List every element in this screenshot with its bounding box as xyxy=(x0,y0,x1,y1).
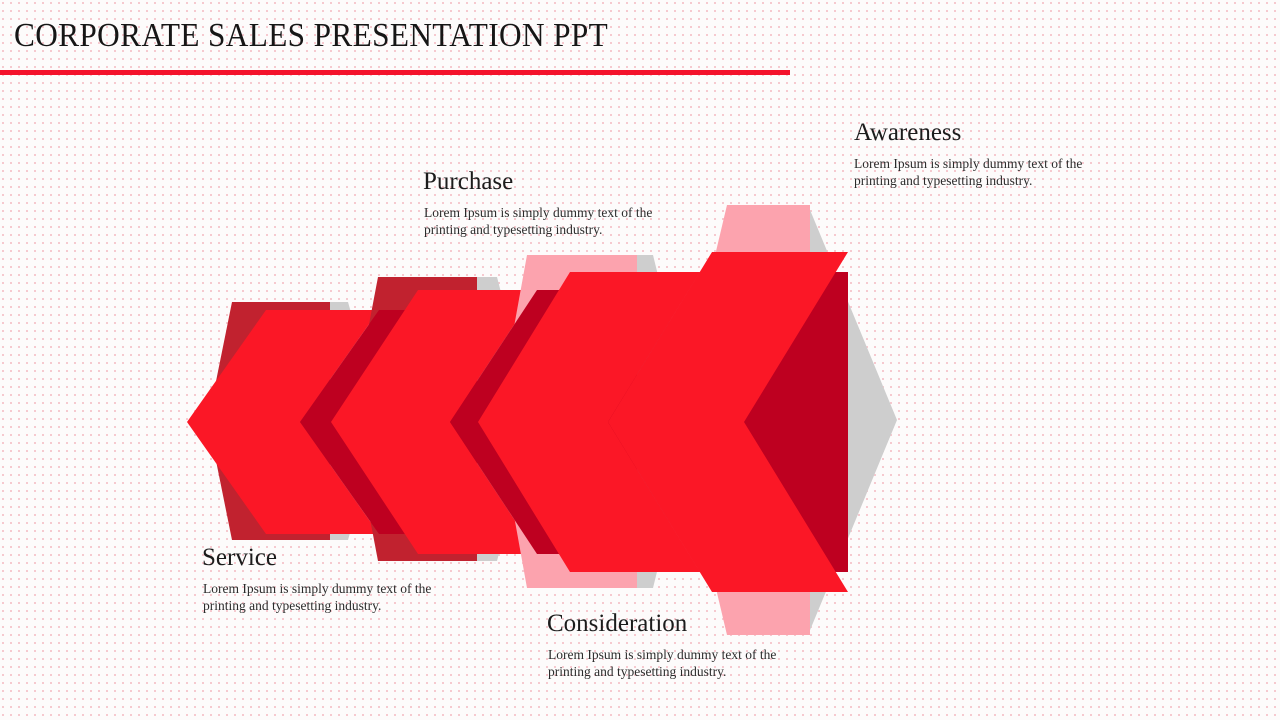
callout-consideration-body: Lorem Ipsum is simply dummy text of the … xyxy=(548,647,780,680)
callout-service-title: Service xyxy=(202,543,435,573)
awareness-shadow xyxy=(745,205,897,635)
purchase-body xyxy=(351,277,477,561)
page-title: CORPORATE SALES PRESENTATION PPT xyxy=(14,14,608,58)
stage-shape-awareness[interactable] xyxy=(608,205,897,635)
service-body xyxy=(208,302,330,540)
slide-canvas: CORPORATE SALES PRESENTATION PPT xyxy=(0,0,1280,720)
stage-shape-service[interactable] xyxy=(187,302,382,540)
service-shadow xyxy=(290,302,382,540)
title-underline-rule xyxy=(0,70,790,75)
title-bar: CORPORATE SALES PRESENTATION PPT xyxy=(0,14,790,76)
purchase-overlap-shade xyxy=(300,310,477,534)
awareness-chevron xyxy=(608,252,848,592)
consideration-shadow xyxy=(589,255,694,588)
callout-consideration[interactable]: Consideration Lorem Ipsum is simply dumm… xyxy=(547,609,780,680)
consideration-chevron xyxy=(478,272,700,572)
purchase-chevron xyxy=(331,290,537,554)
callout-service[interactable]: Service Lorem Ipsum is simply dummy text… xyxy=(202,543,435,614)
awareness-body xyxy=(676,205,810,635)
purchase-shadow xyxy=(437,277,534,561)
stage-shape-consideration[interactable] xyxy=(450,255,700,588)
callout-purchase-body: Lorem Ipsum is simply dummy text of the … xyxy=(424,205,656,238)
callout-purchase-title: Purchase xyxy=(423,167,656,197)
callout-awareness-title: Awareness xyxy=(854,118,1086,148)
callout-awareness-body: Lorem Ipsum is simply dummy text of the … xyxy=(854,156,1086,189)
awareness-overlap-shade xyxy=(608,272,848,572)
callout-awareness[interactable]: Awareness Lorem Ipsum is simply dummy te… xyxy=(854,118,1086,189)
stage-shape-purchase[interactable] xyxy=(300,277,537,561)
callout-service-body: Lorem Ipsum is simply dummy text of the … xyxy=(203,581,435,614)
consideration-body xyxy=(497,255,637,588)
callout-purchase[interactable]: Purchase Lorem Ipsum is simply dummy tex… xyxy=(423,167,656,238)
consideration-overlap-shade xyxy=(450,290,637,554)
callout-consideration-title: Consideration xyxy=(547,609,780,639)
service-chevron xyxy=(187,310,379,534)
